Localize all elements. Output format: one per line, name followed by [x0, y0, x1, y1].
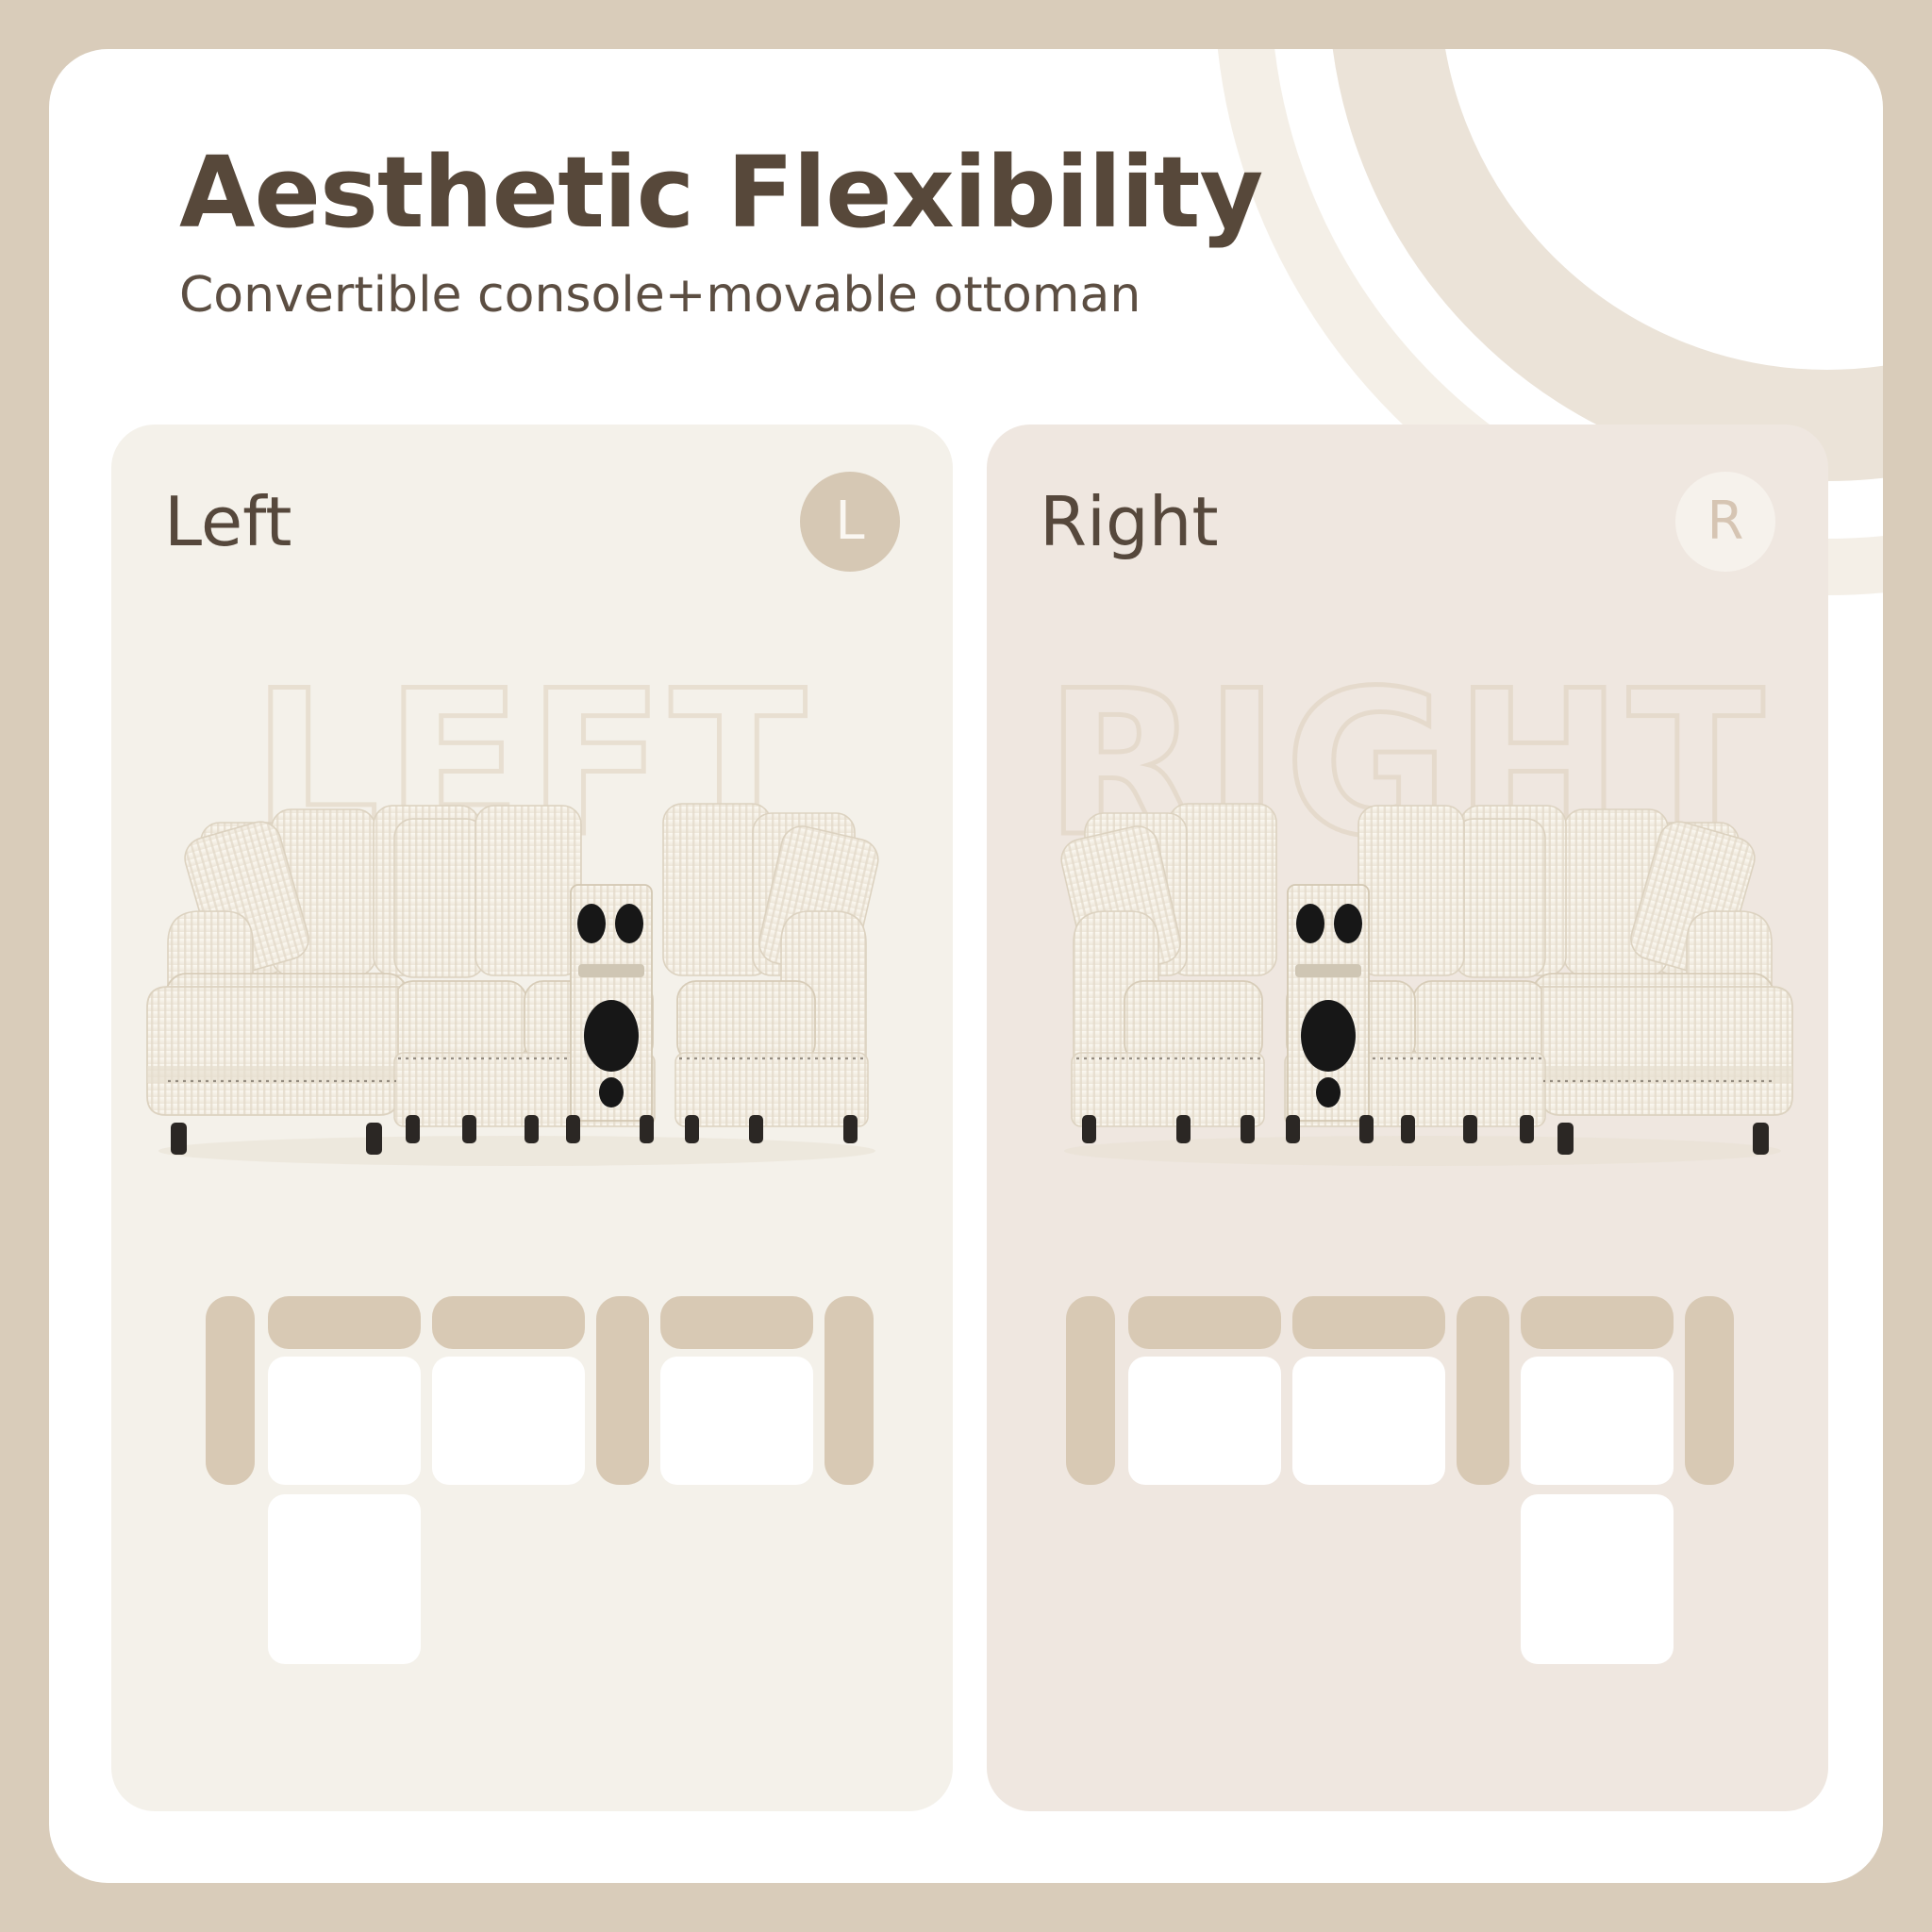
- plan-ottoman-left: [268, 1494, 421, 1664]
- option-card-right[interactable]: Right R RIGHT: [987, 425, 1828, 1811]
- sofa-photo-left: [111, 708, 953, 1236]
- orientation-badge-label-right: R: [1707, 495, 1744, 548]
- poster-stage: Aesthetic Flexibility Convertible consol…: [0, 0, 1932, 1932]
- orientation-badge-right: R: [1675, 472, 1775, 572]
- sofa-photo-right: [987, 708, 1828, 1236]
- plan-ottoman-right: [1521, 1494, 1674, 1664]
- card-header-left: Left L: [164, 470, 900, 574]
- plan-seats-left: [268, 1357, 813, 1485]
- orientation-badge-left: L: [800, 472, 900, 572]
- orientation-badge-label-left: L: [835, 495, 864, 548]
- card-title-left: Left: [164, 488, 291, 556]
- option-card-left[interactable]: Left L LEFT: [111, 425, 953, 1811]
- plan-seats-right: [1128, 1357, 1674, 1485]
- option-cards: Left L LEFT: [0, 0, 1932, 1932]
- layout-diagram-right: [987, 1274, 1828, 1726]
- layout-diagram-left: [111, 1274, 953, 1726]
- card-title-right: Right: [1040, 488, 1219, 556]
- card-header-right: Right R: [1040, 470, 1775, 574]
